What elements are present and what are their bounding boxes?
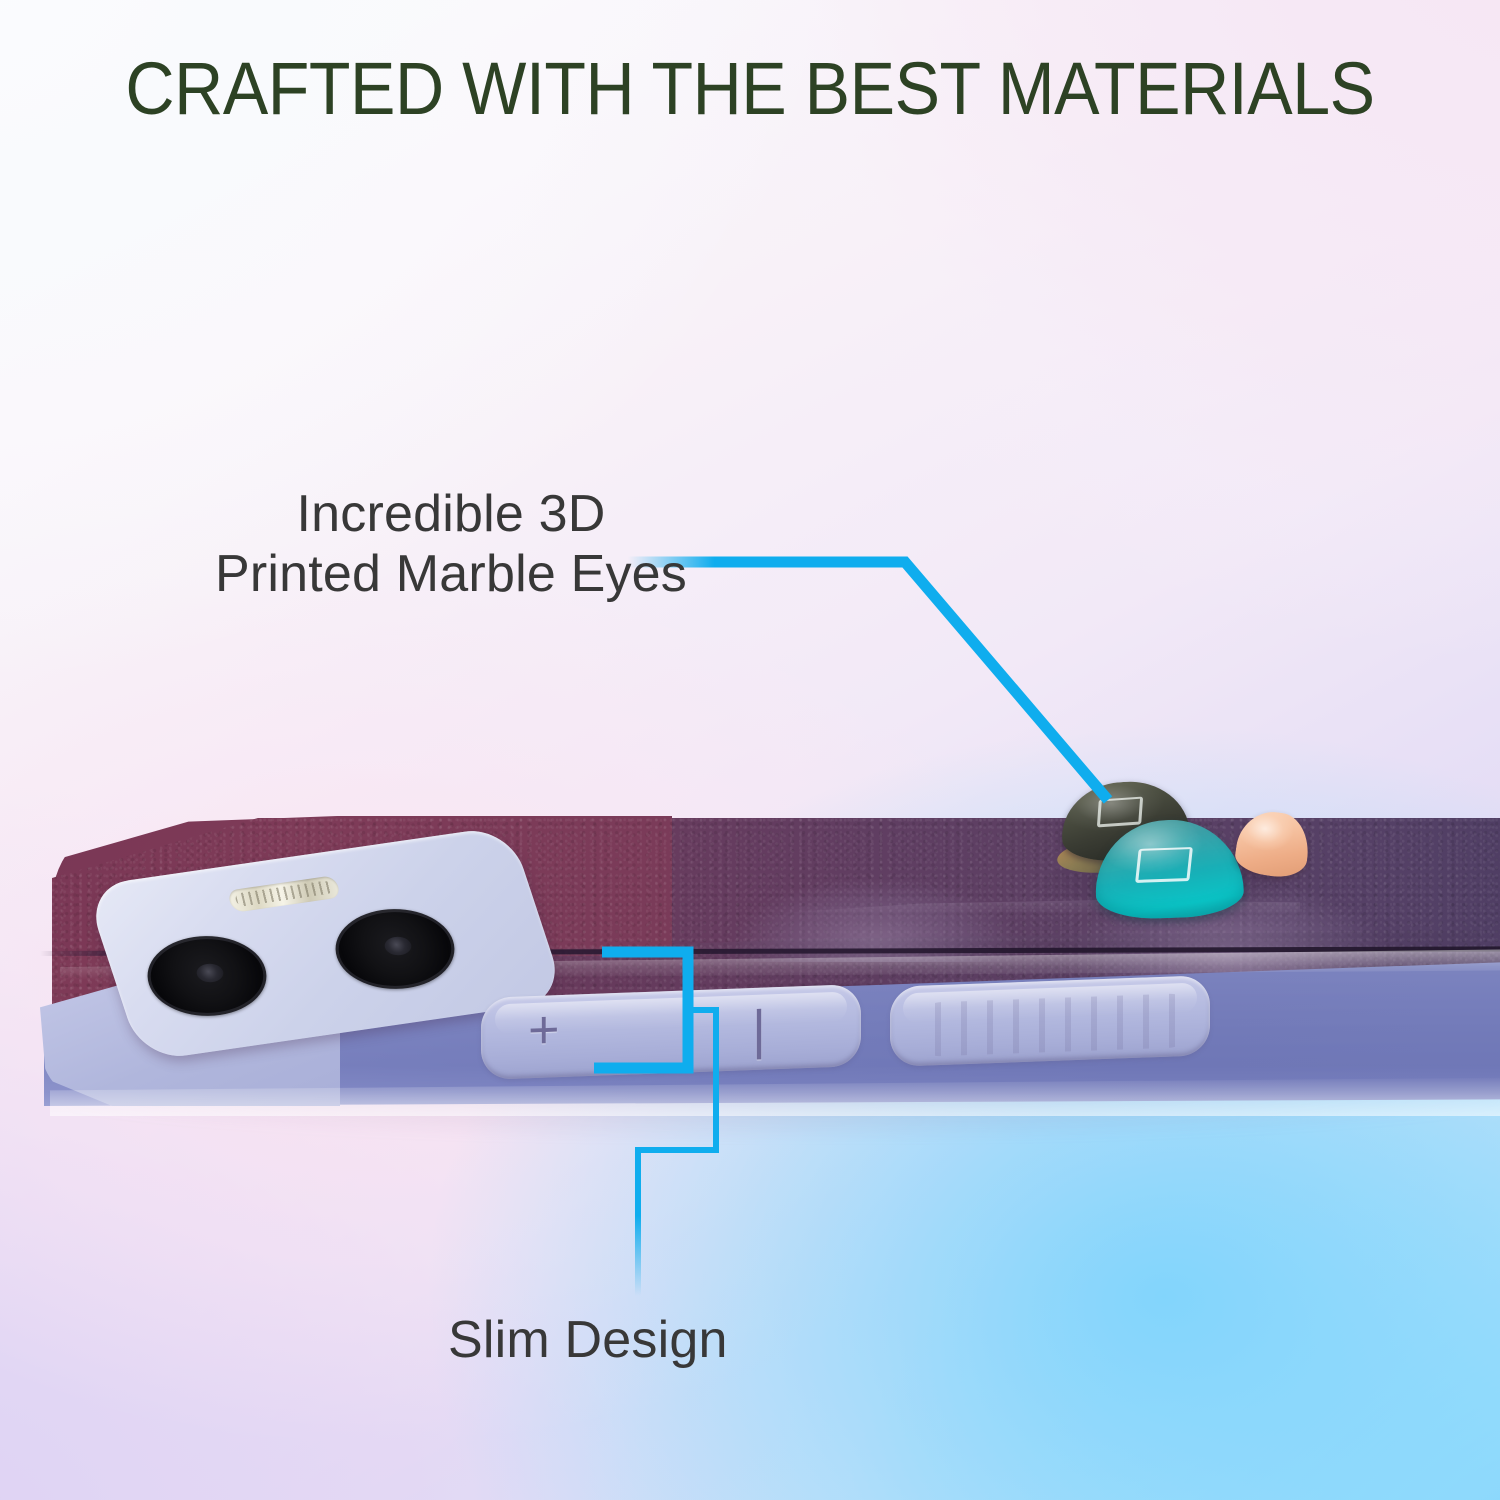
annotation-slim-design-label: Slim Design xyxy=(448,1310,728,1370)
marble-eye-teal-highlight xyxy=(1135,847,1193,883)
volume-up-icon: + xyxy=(528,1002,560,1057)
marble-eye-dark-highlight xyxy=(1097,796,1143,827)
phone-case-product: + | xyxy=(0,760,1500,1160)
power-button-ridges xyxy=(915,993,1195,1057)
page-title: CRAFTED WITH THE BEST MATERIALS xyxy=(60,52,1440,126)
annotation-marble-eyes-label: Incredible 3D Printed Marble Eyes xyxy=(158,484,744,605)
image-canvas: CRAFTED WITH THE BEST MATERIALS xyxy=(0,0,1500,1500)
volume-down-icon: | xyxy=(752,1003,766,1058)
